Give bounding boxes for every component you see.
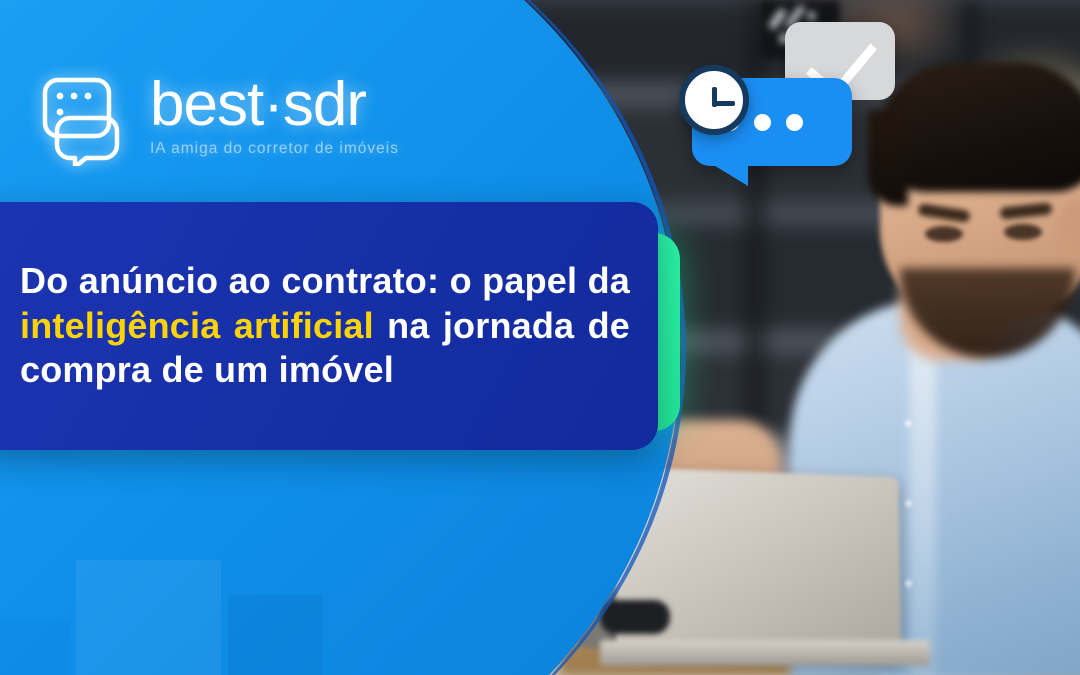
- logo-wordmark-separator: ·: [263, 70, 283, 139]
- chat-window-bubble-icon: [40, 74, 136, 166]
- headline-part-1: Do anúncio ao contrato: o papel da: [20, 260, 630, 301]
- logo-tagline: IA amiga do corretor de imóveis: [150, 140, 399, 158]
- page-title: Do anúncio ao contrato: o papel da intel…: [20, 259, 630, 393]
- logo-wordmark-second: sdr: [283, 70, 366, 139]
- brand-logo: best·sdr IA amiga do corretor de imóveis: [40, 74, 399, 166]
- banner-image: best·sdr IA amiga do corretor de imóveis…: [0, 0, 1080, 675]
- typing-dot: [786, 114, 803, 131]
- clock-hand-minute: [715, 101, 735, 106]
- typing-dot: [754, 114, 771, 131]
- clock-icon: [679, 65, 749, 135]
- logo-wordmark: best·sdr: [150, 74, 399, 136]
- logo-wordmark-first: best: [150, 70, 263, 139]
- headline-card: Do anúncio ao contrato: o papel da intel…: [0, 202, 658, 450]
- headline-highlight: inteligência artificial: [20, 305, 374, 346]
